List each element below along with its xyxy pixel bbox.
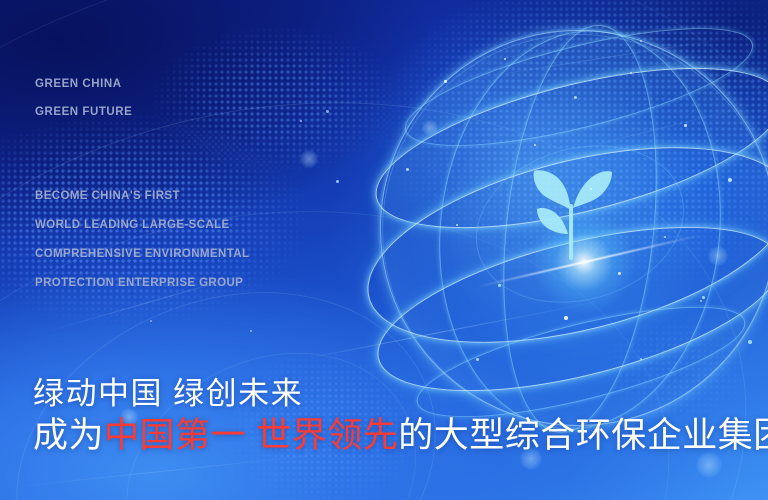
headline-line-1: 绿动中国 绿创未来	[33, 374, 768, 414]
slogan-line: PROTECTION ENTERPRISE GROUP	[35, 269, 249, 298]
bokeh-light	[708, 246, 728, 266]
particle	[476, 358, 479, 361]
particle	[590, 188, 592, 190]
particle	[640, 358, 642, 360]
hero-banner: GREEN CHINA GREEN FUTURE BECOME CHINA'S …	[0, 0, 768, 500]
slogan-line: GREEN FUTURE	[35, 98, 132, 126]
slogan-line: WORLD LEADING LARGE-SCALE	[35, 211, 249, 240]
bokeh-light	[300, 150, 318, 168]
slogan-english-top: GREEN CHINA GREEN FUTURE	[35, 70, 132, 126]
wireframe-globe	[378, 28, 768, 428]
particle	[150, 320, 152, 322]
bokeh-light	[422, 120, 438, 136]
particle	[504, 58, 506, 60]
headline-chinese: 绿动中国 绿创未来 成为中国第一 世界领先的大型综合环保企业集团	[33, 374, 768, 458]
headline-suffix: 的大型综合环保企业集团	[398, 416, 768, 455]
particle	[406, 168, 409, 171]
particle	[618, 272, 621, 275]
slogan-line: GREEN CHINA	[35, 70, 132, 98]
headline-highlight: 中国第一 世界领先	[104, 416, 398, 455]
particle	[728, 178, 732, 182]
headline-line-2: 成为中国第一 世界领先的大型综合环保企业集团	[33, 414, 768, 458]
particle	[250, 330, 252, 332]
particle	[498, 284, 501, 287]
particle	[630, 72, 632, 74]
particle	[702, 296, 705, 299]
slogan-line: BECOME CHINA'S FIRST	[35, 182, 249, 211]
particle	[326, 110, 329, 113]
slogan-english-main: BECOME CHINA'S FIRST WORLD LEADING LARGE…	[35, 182, 249, 298]
particle	[456, 224, 458, 226]
particle	[684, 124, 687, 127]
particle	[564, 316, 568, 320]
particle	[444, 80, 447, 83]
particle	[574, 96, 577, 99]
particle	[664, 236, 666, 238]
sprout-seedling-icon	[528, 158, 614, 270]
slogan-line: COMPREHENSIVE ENVIRONMENTAL	[35, 240, 249, 269]
headline-prefix: 成为	[33, 416, 104, 455]
particle	[300, 120, 302, 122]
particle	[534, 144, 536, 146]
